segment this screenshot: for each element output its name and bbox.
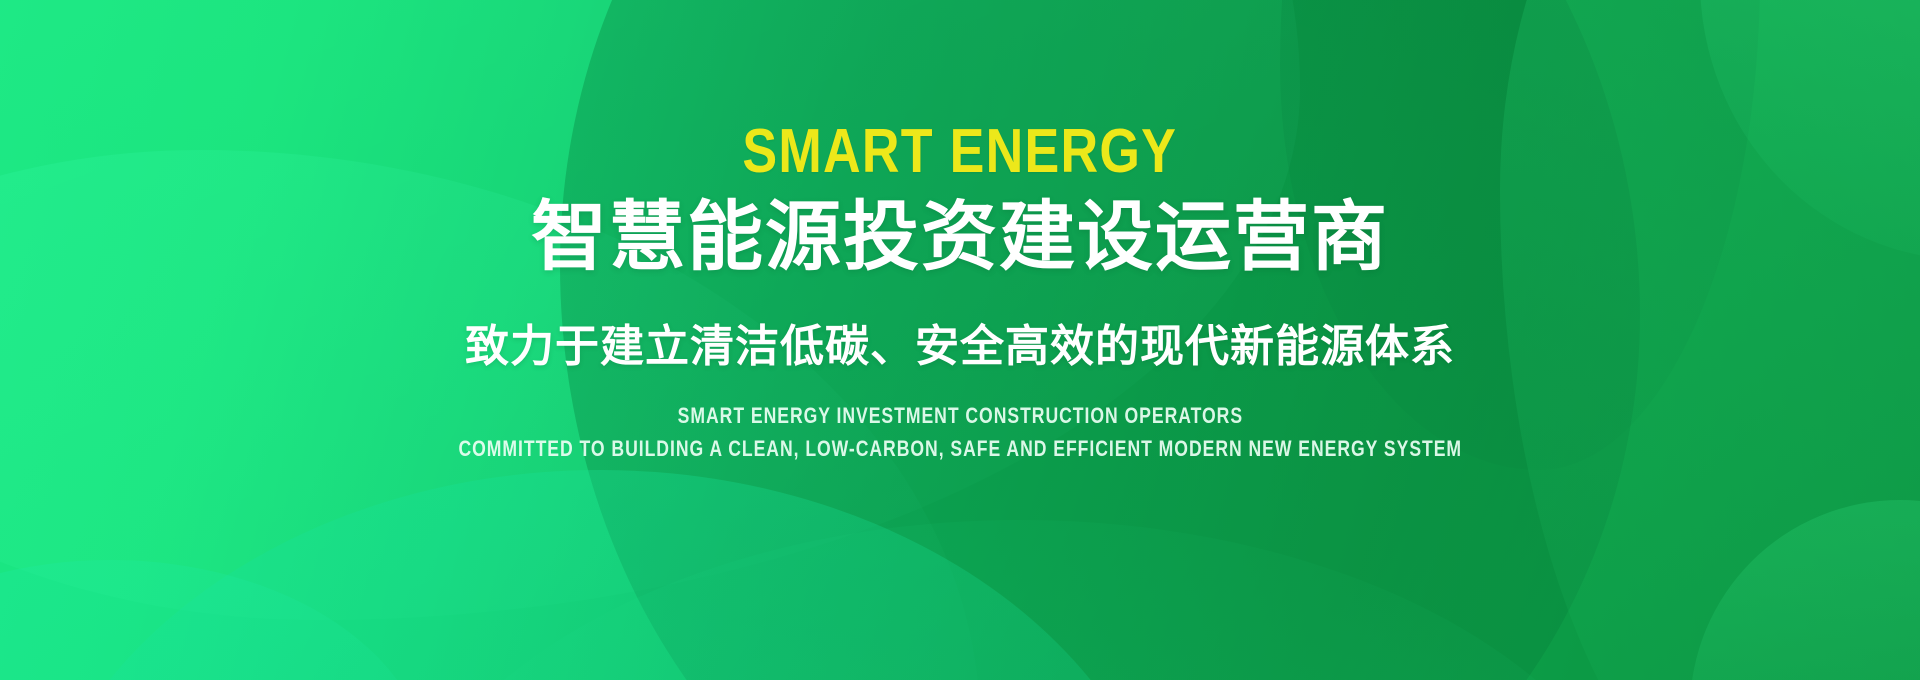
banner-subheadline-chinese: 致力于建立清洁低碳、安全高效的现代新能源体系 [465,321,1455,374]
banner-eyebrow-english: SMART ENERGY [743,121,1178,183]
banner-headline-chinese: 智慧能源投资建设运营商 [531,197,1389,279]
banner-caption-english-line2: COMMITTED TO BUILDING A CLEAN, LOW-CARBO… [458,435,1462,463]
banner-caption-english-line1: SMART ENERGY INVESTMENT CONSTRUCTION OPE… [677,402,1242,430]
hero-banner: SMART ENERGY 智慧能源投资建设运营商 致力于建立清洁低碳、安全高效的… [0,0,1920,680]
banner-text-block: SMART ENERGY 智慧能源投资建设运营商 致力于建立清洁低碳、安全高效的… [0,0,1920,680]
